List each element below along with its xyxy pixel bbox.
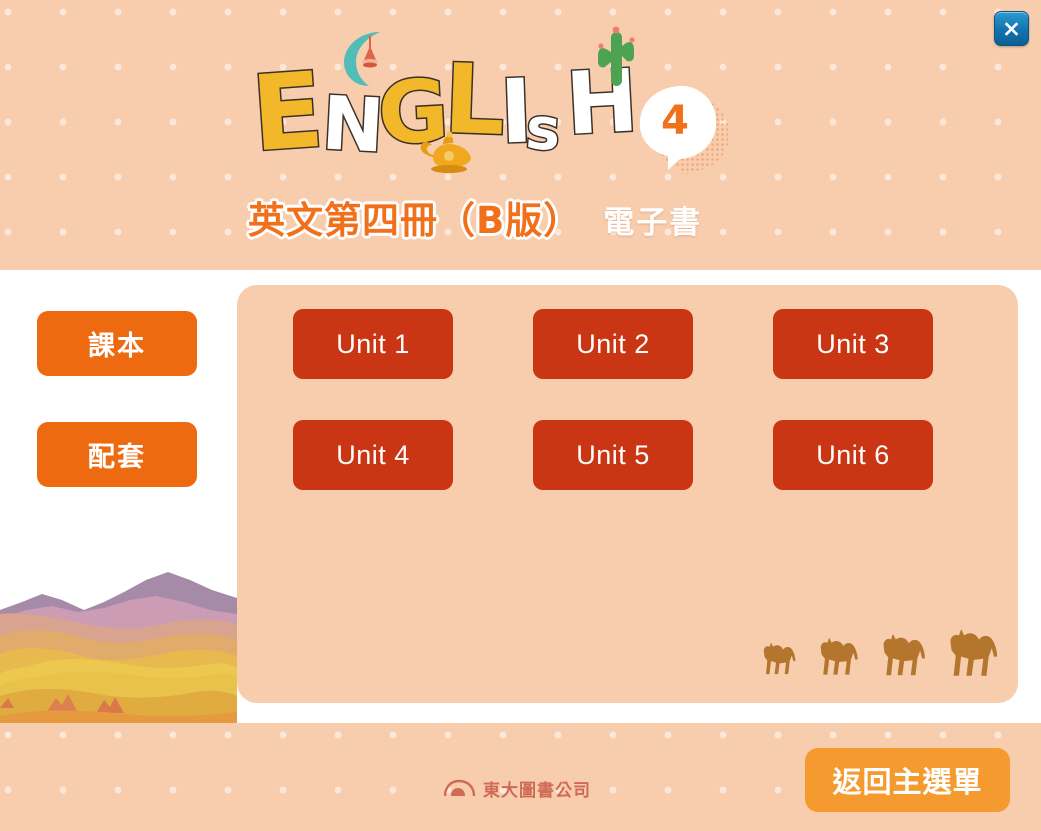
crescent-moon-icon (334, 28, 398, 90)
publisher-mark-icon (443, 778, 477, 798)
camel-icon (950, 629, 997, 676)
volume-number: 4 (636, 82, 715, 160)
unit-button-2[interactable]: Unit 2 (533, 309, 693, 379)
book-title-chinese: 英文第四冊（B版） (248, 190, 581, 244)
genie-lamp-icon (413, 128, 479, 176)
unit-button-5[interactable]: Unit 5 (533, 420, 693, 490)
wordmark-letter-s: s (524, 99, 562, 159)
unit-grid: Unit 1 Unit 2 Unit 3 Unit 4 Unit 5 Unit … (293, 309, 993, 490)
close-icon[interactable] (994, 11, 1029, 46)
unit-panel: Unit 1 Unit 2 Unit 3 Unit 4 Unit 5 Unit … (237, 285, 1018, 703)
camel-caravan-decoration (756, 623, 1006, 685)
camel-icon (821, 638, 858, 675)
sidebar-item-textbook[interactable]: 課本 (37, 311, 197, 376)
publisher-logo: 東大圖書公司 (443, 775, 593, 801)
volume-speech-bubble: 4 (636, 82, 728, 174)
desert-landscape-image (0, 558, 237, 723)
english-wordmark: E N G L I s H (248, 30, 628, 160)
sidebar: 課本 配套 (37, 311, 197, 487)
ebook-label: 電子書 (603, 197, 702, 242)
publisher-name: 東大圖書公司 (483, 776, 591, 801)
unit-button-6[interactable]: Unit 6 (773, 420, 933, 490)
app-root: E N G L I s H (0, 0, 1041, 831)
unit-button-1[interactable]: Unit 1 (293, 309, 453, 379)
subtitle-row: 英文第四冊（B版） 電子書 (248, 190, 808, 242)
header-banner: E N G L I s H (0, 0, 1041, 270)
wordmark-letter-e: E (248, 58, 326, 167)
camel-icon (884, 634, 925, 675)
logo-block: E N G L I s H (248, 30, 758, 180)
main-content-area: 課本 配套 Unit 1 Unit 2 Unit 3 Unit 4 Unit 5… (0, 270, 1041, 723)
unit-button-3[interactable]: Unit 3 (773, 309, 933, 379)
back-to-main-menu-button[interactable]: 返回主選單 (805, 748, 1010, 812)
unit-button-4[interactable]: Unit 4 (293, 420, 453, 490)
camel-icon (764, 642, 796, 674)
cactus-icon (595, 22, 637, 88)
wordmark-letter-n: N (320, 86, 386, 163)
sidebar-item-supplement[interactable]: 配套 (37, 422, 197, 487)
